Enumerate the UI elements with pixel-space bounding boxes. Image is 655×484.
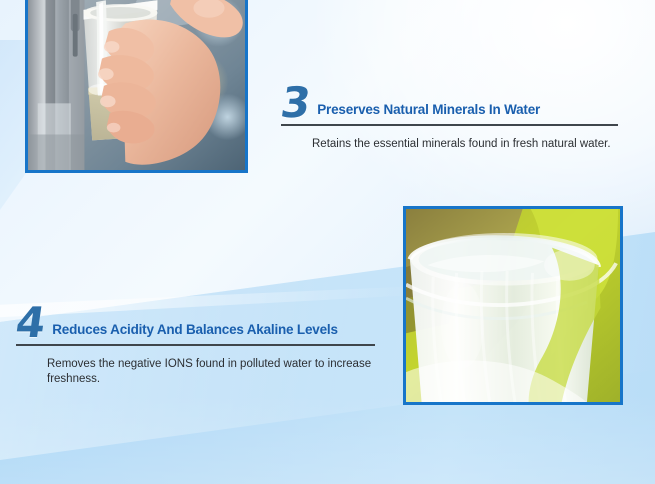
feature-3-number: 3 (279, 86, 312, 120)
photo-glass-water-lime-svg (406, 209, 620, 402)
background-bottom-fade (0, 394, 655, 484)
feature-4-divider (16, 344, 375, 346)
feature-section-4: 4 Reduces Acidity And Balances Akaline L… (16, 306, 378, 387)
poster-canvas: 3 Preserves Natural Minerals In Water Re… (0, 0, 655, 484)
feature-4-title: Reduces Acidity And Balances Akaline Lev… (52, 322, 338, 340)
feature-3-title: Preserves Natural Minerals In Water (317, 102, 540, 120)
photo-water-cup-tap (25, 0, 248, 173)
photo-glass-water-lime (403, 206, 623, 405)
photo-glass-water-lime-image (406, 209, 620, 402)
feature-4-body: Removes the negative IONS found in pollu… (47, 357, 378, 387)
photo-water-cup-tap-svg (28, 0, 245, 170)
photo-water-cup-tap-image (28, 0, 245, 170)
feature-4-number: 4 (14, 306, 47, 340)
feature-3-body: Retains the essential minerals found in … (312, 137, 621, 152)
feature-3-divider (281, 124, 618, 126)
feature-section-3: 3 Preserves Natural Minerals In Water Re… (281, 86, 621, 152)
feature-4-heading-row: 4 Reduces Acidity And Balances Akaline L… (16, 306, 378, 340)
feature-3-heading-row: 3 Preserves Natural Minerals In Water (281, 86, 621, 120)
